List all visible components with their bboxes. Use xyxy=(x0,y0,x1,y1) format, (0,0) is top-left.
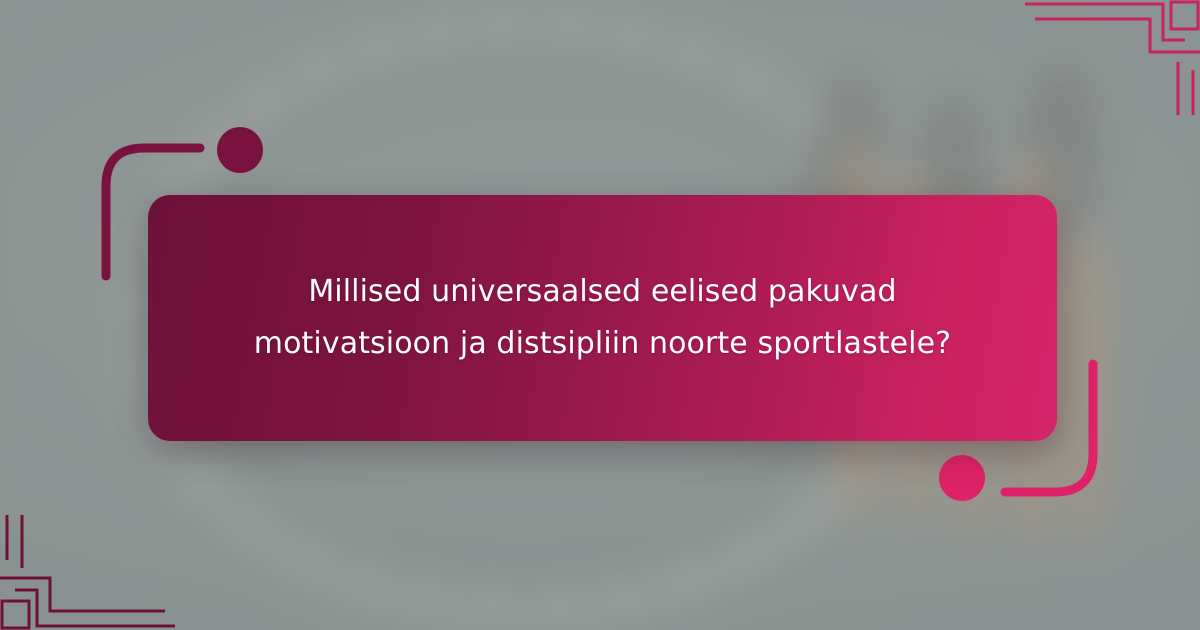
question-card: Millised universaalsed eelised pakuvad m… xyxy=(148,195,1057,441)
share-card-canvas: Millised universaalsed eelised pakuvad m… xyxy=(0,0,1200,630)
question-text: Millised universaalsed eelised pakuvad m… xyxy=(208,266,998,369)
